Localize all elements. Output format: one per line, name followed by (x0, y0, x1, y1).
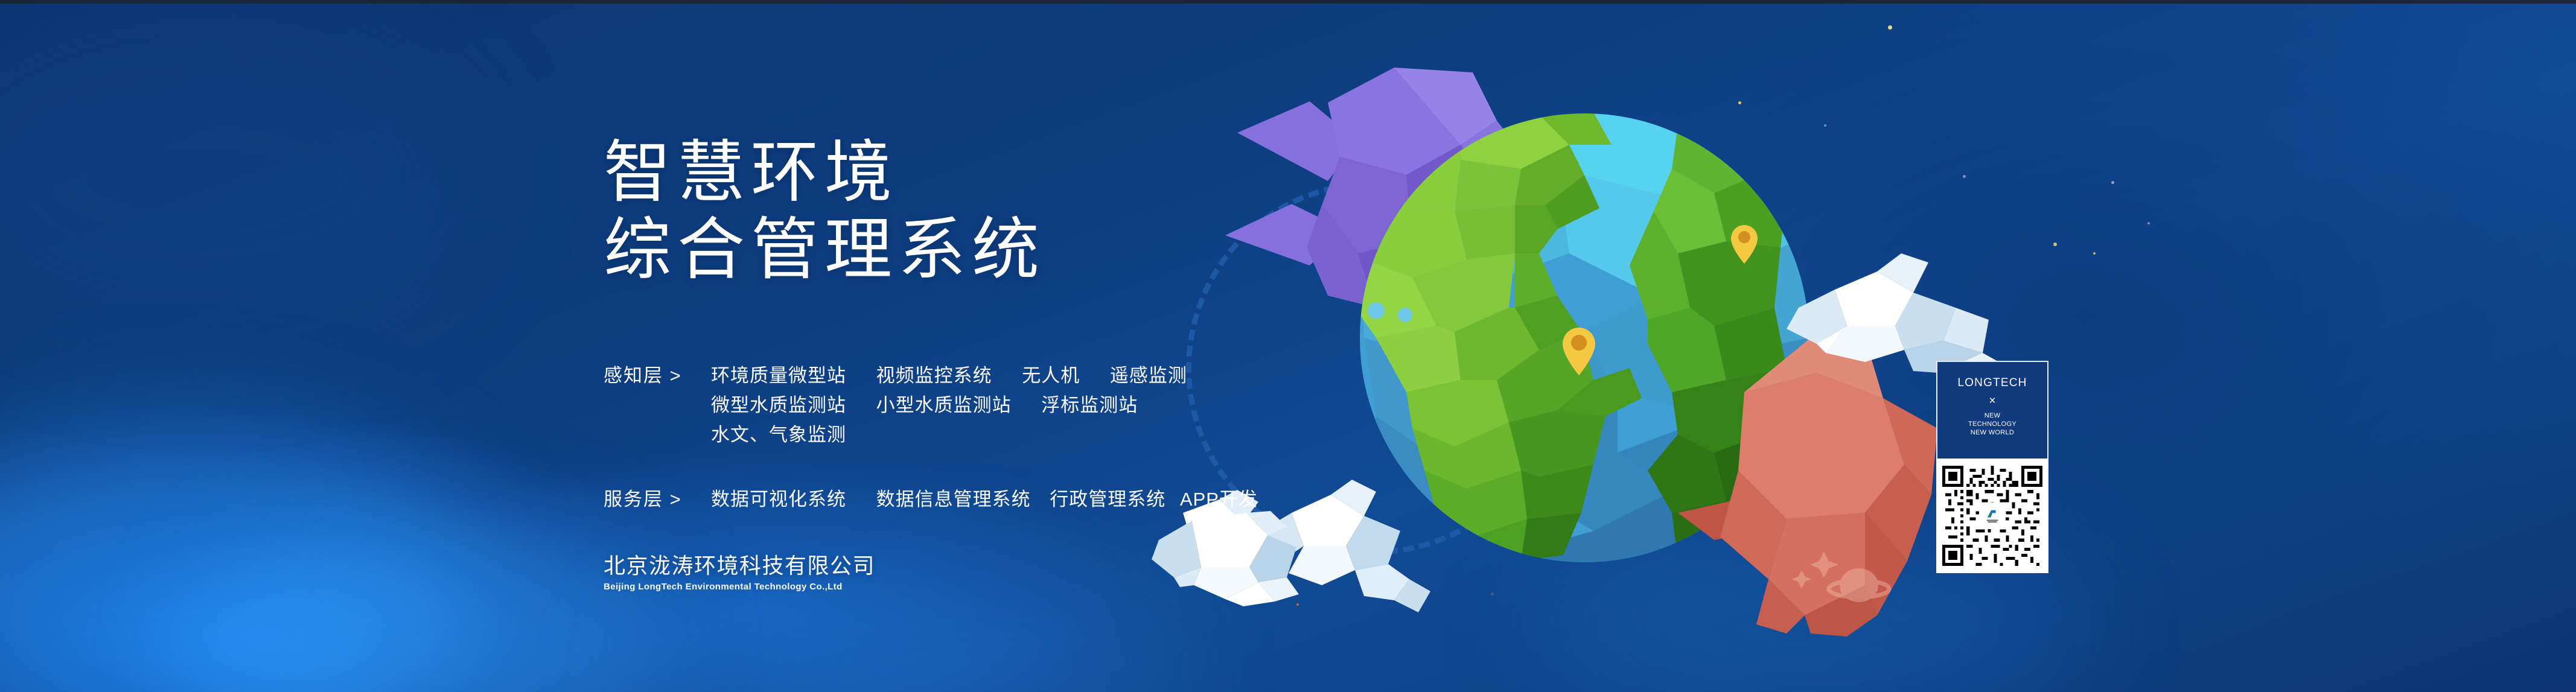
qr-brand-name: LONGTECH (1957, 376, 2027, 390)
layer-line: 环境质量微型站 视频监控系统 无人机 遥感监测 (711, 361, 1358, 390)
layer-line: 数据可视化系统 数据信息管理系统 行政管理系统 APP开发 (711, 484, 1358, 514)
qr-card-header: LONGTECH × NEW TECHNOLOGY NEW WORLD (1936, 361, 2048, 459)
star-dot (2147, 222, 2150, 224)
layer-list: 感知层 > 环境质量微型站 视频监控系统 无人机 遥感监测 微型水质监测站 小型… (604, 361, 1358, 549)
layer-item[interactable]: APP开发 (1180, 489, 1258, 510)
star-dot (2111, 181, 2114, 184)
background-haze-topleft (0, 24, 471, 338)
qr-tagline: NEW TECHNOLOGY NEW WORLD (1968, 411, 2016, 437)
layer-item[interactable]: 数据信息管理系统 (876, 489, 1031, 510)
background-haze-lower (199, 531, 658, 692)
layer-item[interactable]: 小型水质监测站 (876, 395, 1012, 416)
company-name-cn: 北京泷涛环境科技有限公司 (604, 553, 875, 579)
layer-items-perception: 环境质量微型站 视频监控系统 无人机 遥感监测 微型水质监测站 小型水质监测站 … (694, 361, 1358, 449)
layer-label-service[interactable]: 服务层 > (604, 484, 694, 514)
globe-icon (1346, 112, 1811, 640)
layer-item[interactable]: 数据可视化系统 (711, 489, 846, 510)
layer-row-perception: 感知层 > 环境质量微型站 视频监控系统 无人机 遥感监测 微型水质监测站 小型… (604, 361, 1358, 449)
qr-tagline-line3: NEW WORLD (1968, 428, 2016, 437)
page-title: 智慧环境 综合管理系统 (604, 134, 1045, 288)
layer-item[interactable]: 视频监控系统 (876, 365, 992, 386)
qr-promo-card[interactable]: LONGTECH × NEW TECHNOLOGY NEW WORLD (1936, 361, 2048, 573)
layer-line: 水文、气象监测 (711, 420, 1358, 449)
qr-separator-icon: × (1989, 392, 1995, 410)
layer-item[interactable]: 环境质量微型站 (711, 365, 846, 386)
layer-line: 微型水质监测站 小型水质监测站 浮标监测站 (711, 390, 1358, 420)
qr-code-icon[interactable] (1942, 466, 2042, 566)
layer-item[interactable]: 水文、气象监测 (711, 424, 846, 445)
company-block: 北京泷涛环境科技有限公司 Beijing LongTech Environmen… (604, 553, 875, 594)
qr-center-logo-icon (1980, 504, 2004, 528)
layer-item[interactable]: 浮标监测站 (1041, 395, 1138, 416)
qr-tagline-line2: TECHNOLOGY (1968, 420, 2016, 428)
company-name-en: Beijing LongTech Environmental Technolog… (604, 580, 875, 594)
layer-item[interactable]: 无人机 (1022, 365, 1080, 386)
banner-content: 智慧环境 综合管理系统 感知层 > 环境质量微型站 视频监控系统 无人机 遥感监… (604, 0, 1388, 692)
star-dot (1888, 25, 1892, 30)
hero-banner: 智慧环境 综合管理系统 感知层 > 环境质量微型站 视频监控系统 无人机 遥感监… (0, 0, 2576, 692)
layer-item[interactable]: 遥感监测 (1110, 365, 1187, 386)
qr-tagline-line1: NEW (1968, 411, 2016, 420)
background-haze-left (0, 422, 471, 692)
layer-items-service: 数据可视化系统 数据信息管理系统 行政管理系统 APP开发 (694, 484, 1358, 514)
star-dot (2093, 252, 2096, 255)
layer-item[interactable]: 微型水质监测站 (711, 395, 846, 416)
layer-item[interactable]: 行政管理系统 (1050, 489, 1165, 510)
layer-row-service: 服务层 > 数据可视化系统 数据信息管理系统 行政管理系统 APP开发 (604, 484, 1358, 514)
qr-card-body (1936, 459, 2048, 573)
star-dot (2053, 243, 2057, 246)
layer-label-perception[interactable]: 感知层 > (604, 361, 694, 390)
